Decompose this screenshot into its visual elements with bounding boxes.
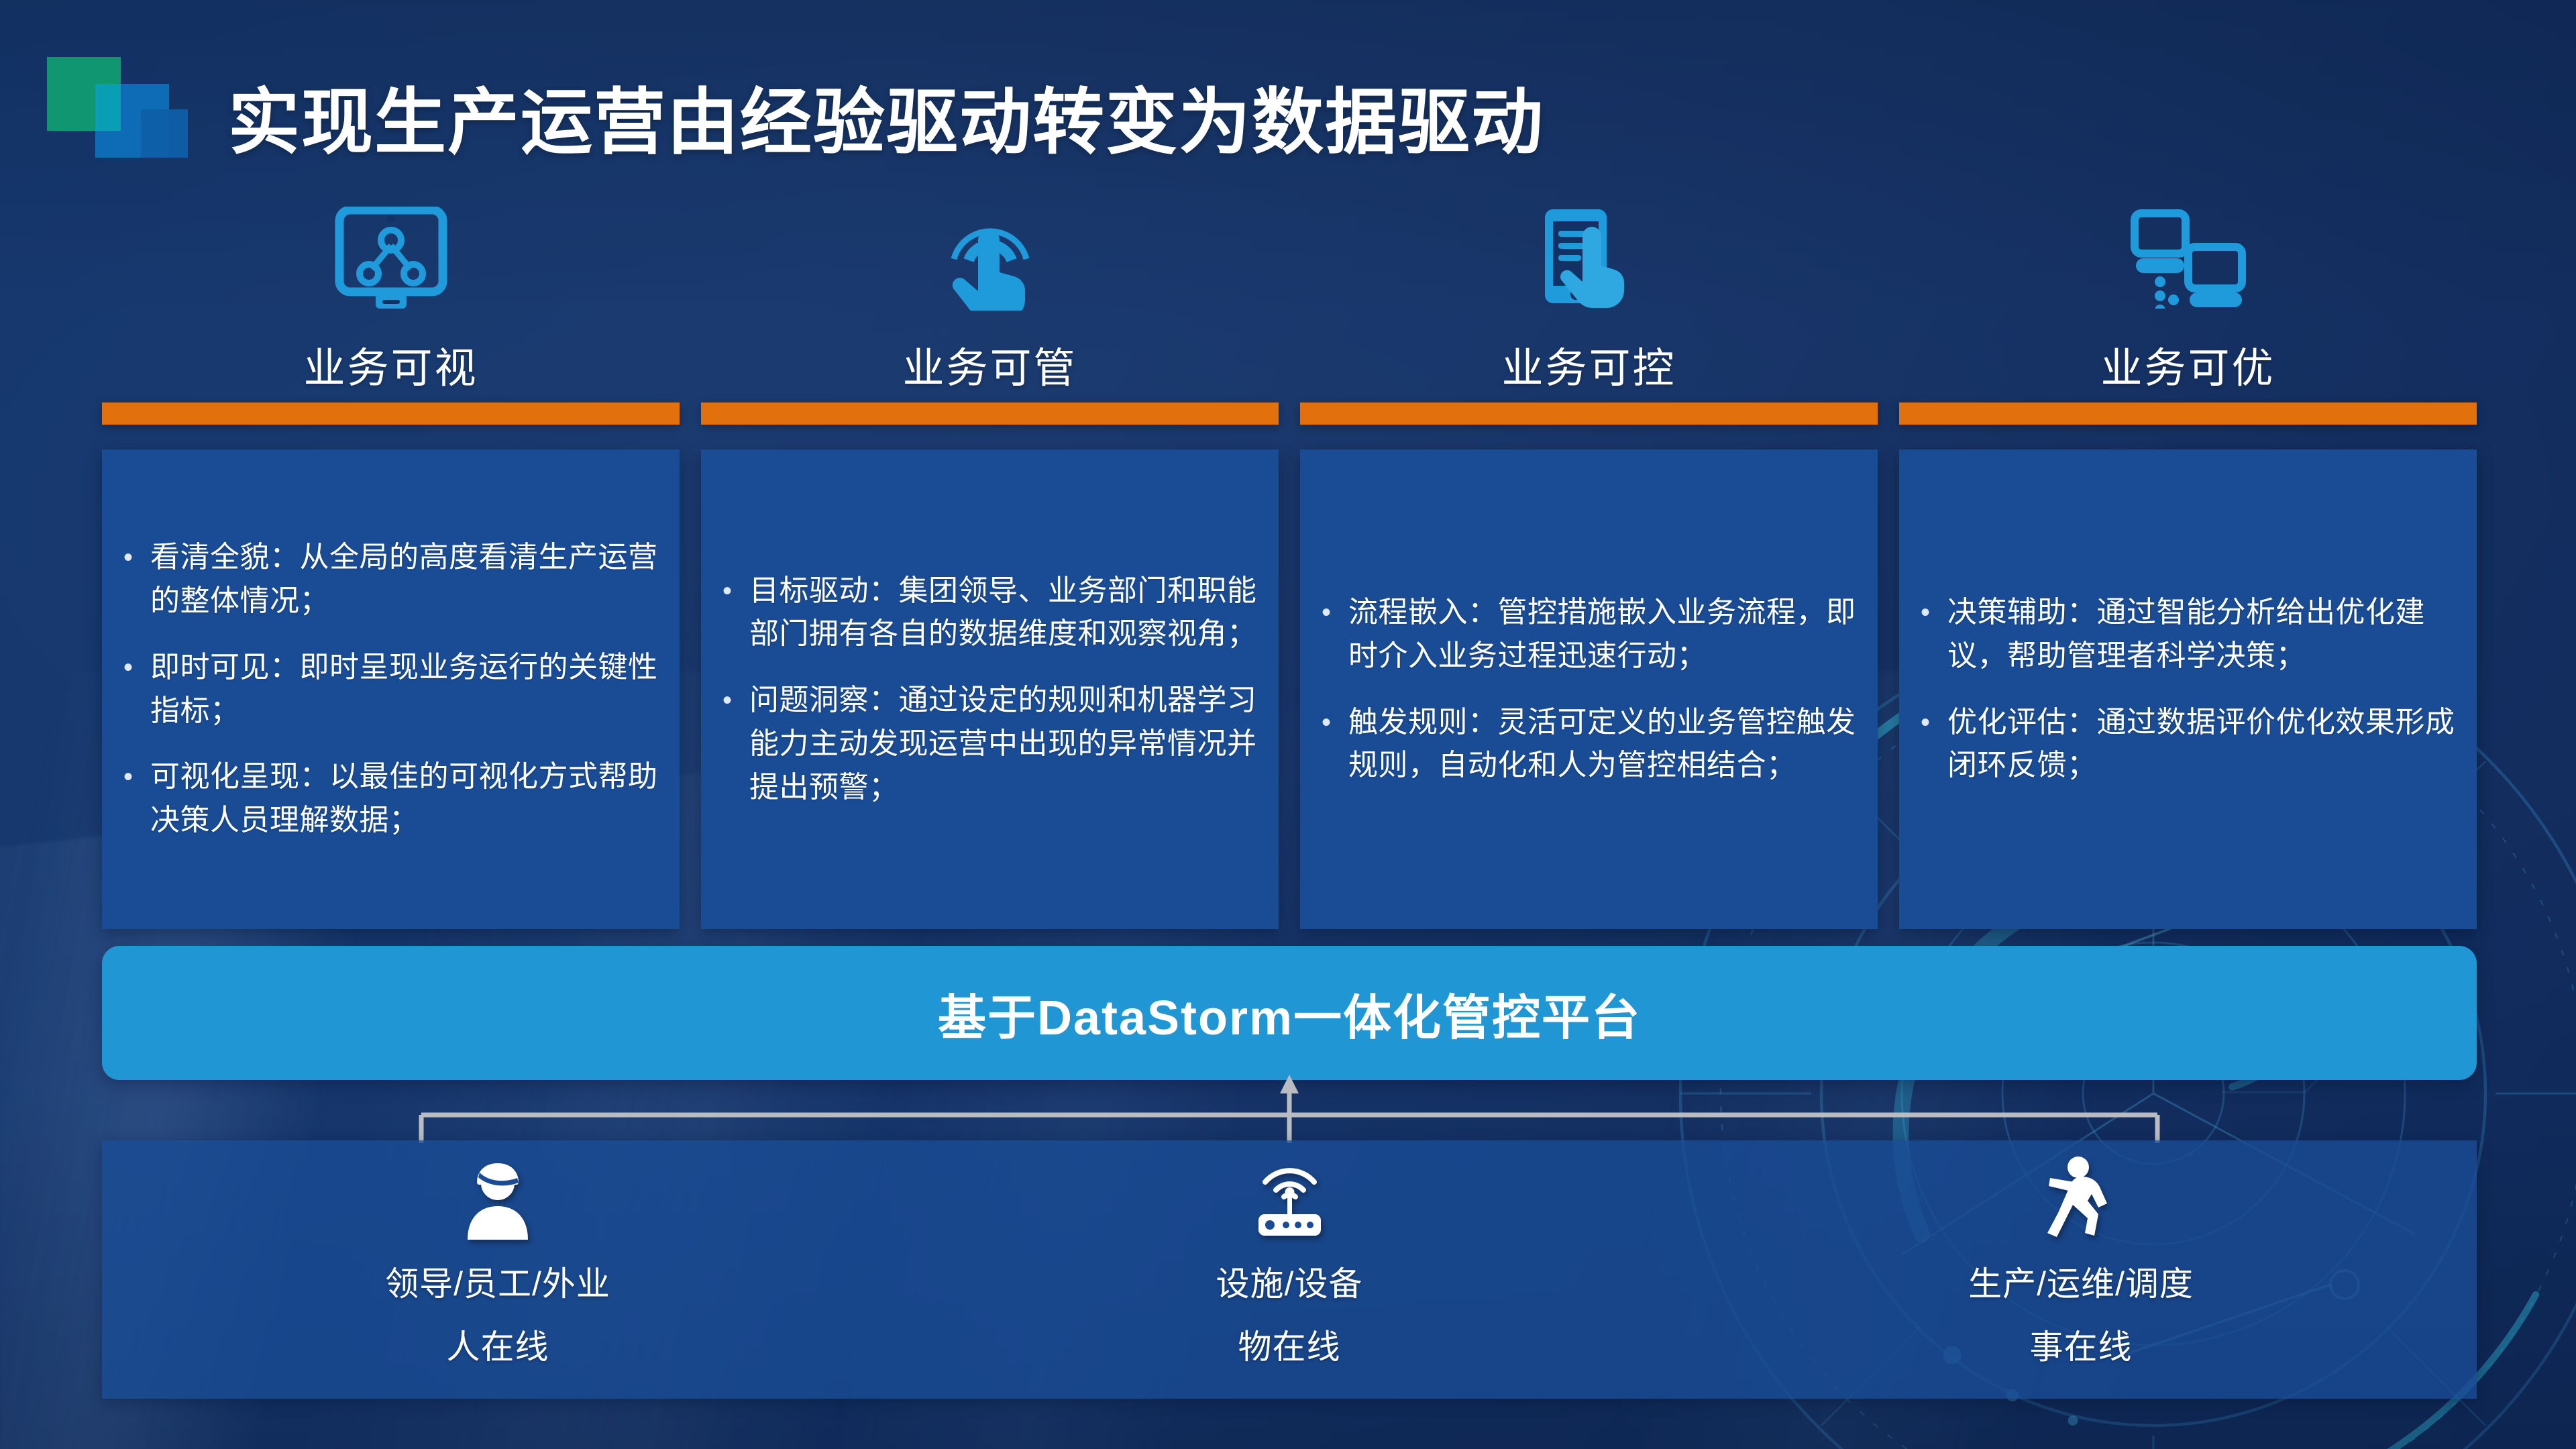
entity-people[interactable]: 领导/员工/外业 人在线	[102, 1140, 894, 1399]
bullet-text: 优化评估：通过数据评价优化效果形成闭环反馈；	[1947, 701, 2459, 788]
entity-online-label: 事在线	[2030, 1320, 2133, 1368]
pillar-column-visible[interactable]: 业务可视 • 看清全貌：从全局的高度看清生产运营的整体情况； • 即时可见：即时…	[102, 191, 680, 929]
pillar-accent-rule	[1300, 402, 1878, 425]
entity-roles: 领导/员工/外业	[385, 1257, 610, 1305]
bullet-marker: •	[1913, 591, 1947, 634]
entity-roles: 设施/设备	[1216, 1257, 1363, 1305]
bullet-marker: •	[714, 679, 749, 722]
bullet-text: 可视化呈现：以最佳的可视化方式帮助决策人员理解数据；	[150, 755, 662, 842]
list-item: • 优化评估：通过数据评价优化效果形成闭环反馈；	[1913, 701, 2459, 788]
bullet-marker: •	[1313, 701, 1348, 744]
slide-header: 实现生产运营由经验驱动转变为数据驱动	[0, 0, 2576, 181]
entity-online-label: 人在线	[447, 1320, 549, 1368]
mobile-tap-icon	[1300, 191, 1878, 325]
pillar-label: 业务可管	[701, 325, 1279, 402]
monitor-network-icon	[102, 191, 680, 325]
list-item: • 决策辅助：通过智能分析给出优化建议，帮助管理者科学决策；	[1913, 591, 2459, 678]
pillar-column-controllable[interactable]: 业务可控 • 流程嵌入：管控措施嵌入业务流程，即时介入业务过程迅速行动； • 触…	[1300, 191, 1878, 929]
pillar-card: • 目标驱动：集团领导、业务部门和职能部门拥有各自的数据维度和观察视角； • 问…	[701, 449, 1279, 929]
entity-events[interactable]: 生产/运维/调度 事在线	[1685, 1140, 2477, 1399]
bullet-text: 即时可见：即时呈现业务运行的关键性指标；	[150, 646, 662, 733]
bullet-marker: •	[1913, 701, 1947, 744]
list-item: • 目标驱动：集团领导、业务部门和职能部门拥有各自的数据维度和观察视角；	[714, 570, 1261, 656]
bullet-marker: •	[1313, 591, 1348, 634]
platform-banner[interactable]: 基于DataStorm一体化管控平台	[102, 946, 2477, 1080]
pillar-column-manageable[interactable]: 业务可管 • 目标驱动：集团领导、业务部门和职能部门拥有各自的数据维度和观察视角…	[701, 191, 1279, 929]
slide-canvas: 实现生产运营由经验驱动转变为数据驱动 业务可视	[0, 0, 2576, 1449]
tap-gesture-icon	[701, 191, 1279, 325]
list-item: • 问题洞察：通过设定的规则和机器学习能力主动发现运营中出现的异常情况并提出预警…	[714, 679, 1261, 809]
pillar-accent-rule	[102, 402, 680, 425]
devices-network-icon	[1899, 191, 2477, 325]
list-item: • 可视化呈现：以最佳的可视化方式帮助决策人员理解数据；	[115, 755, 662, 842]
list-item: • 流程嵌入：管控措施嵌入业务流程，即时介入业务过程迅速行动；	[1313, 591, 1860, 678]
bullet-text: 决策辅助：通过智能分析给出优化建议，帮助管理者科学决策；	[1947, 591, 2459, 678]
pillar-column-optimizable[interactable]: 业务可优 • 决策辅助：通过智能分析给出优化建议，帮助管理者科学决策； • 优化…	[1899, 191, 2477, 929]
page-title: 实现生产运营由经验驱动转变为数据驱动	[228, 64, 1544, 168]
brand-logo-icon	[47, 57, 188, 171]
pillar-label: 业务可优	[1899, 325, 2477, 402]
list-item: • 即时可见：即时呈现业务运行的关键性指标；	[115, 646, 662, 733]
running-person-icon	[2041, 1159, 2121, 1240]
list-item: • 看清全貌：从全局的高度看清生产运营的整体情况；	[115, 536, 662, 623]
bullet-text: 目标驱动：集团领导、业务部门和职能部门拥有各自的数据维度和观察视角；	[749, 570, 1261, 656]
router-wifi-icon	[1248, 1159, 1332, 1240]
pillar-label: 业务可控	[1300, 325, 1878, 402]
entity-devices[interactable]: 设施/设备 物在线	[894, 1140, 1685, 1399]
pillar-columns: 业务可视 • 看清全貌：从全局的高度看清生产运营的整体情况； • 即时可见：即时…	[102, 191, 2477, 929]
entity-online-label: 物在线	[1238, 1320, 1341, 1368]
bullet-marker: •	[714, 570, 749, 612]
online-entities-row: 领导/员工/外业 人在线	[102, 1140, 2477, 1399]
worker-person-icon	[461, 1159, 535, 1240]
bullet-text: 流程嵌入：管控措施嵌入业务流程，即时介入业务过程迅速行动；	[1348, 591, 1860, 678]
pillar-card: • 看清全貌：从全局的高度看清生产运营的整体情况； • 即时可见：即时呈现业务运…	[102, 449, 680, 929]
pillar-card: • 决策辅助：通过智能分析给出优化建议，帮助管理者科学决策； • 优化评估：通过…	[1899, 449, 2477, 929]
pillar-label: 业务可视	[102, 325, 680, 402]
bullet-text: 触发规则：灵活可定义的业务管控触发规则，自动化和人为管控相结合；	[1348, 701, 1860, 788]
bullet-text: 看清全貌：从全局的高度看清生产运营的整体情况；	[150, 536, 662, 623]
entity-roles: 生产/运维/调度	[1968, 1257, 2194, 1305]
bullet-text: 问题洞察：通过设定的规则和机器学习能力主动发现运营中出现的异常情况并提出预警；	[749, 679, 1261, 809]
list-item: • 触发规则：灵活可定义的业务管控触发规则，自动化和人为管控相结合；	[1313, 701, 1860, 788]
bullet-marker: •	[115, 755, 150, 798]
bullet-marker: •	[115, 646, 150, 689]
pillar-card: • 流程嵌入：管控措施嵌入业务流程，即时介入业务过程迅速行动； • 触发规则：灵…	[1300, 449, 1878, 929]
platform-banner-label: 基于DataStorm一体化管控平台	[938, 978, 1641, 1049]
connector-bracket	[102, 1073, 2477, 1147]
pillar-accent-rule	[1899, 402, 2477, 425]
bullet-marker: •	[115, 536, 150, 579]
pillar-accent-rule	[701, 402, 1279, 425]
